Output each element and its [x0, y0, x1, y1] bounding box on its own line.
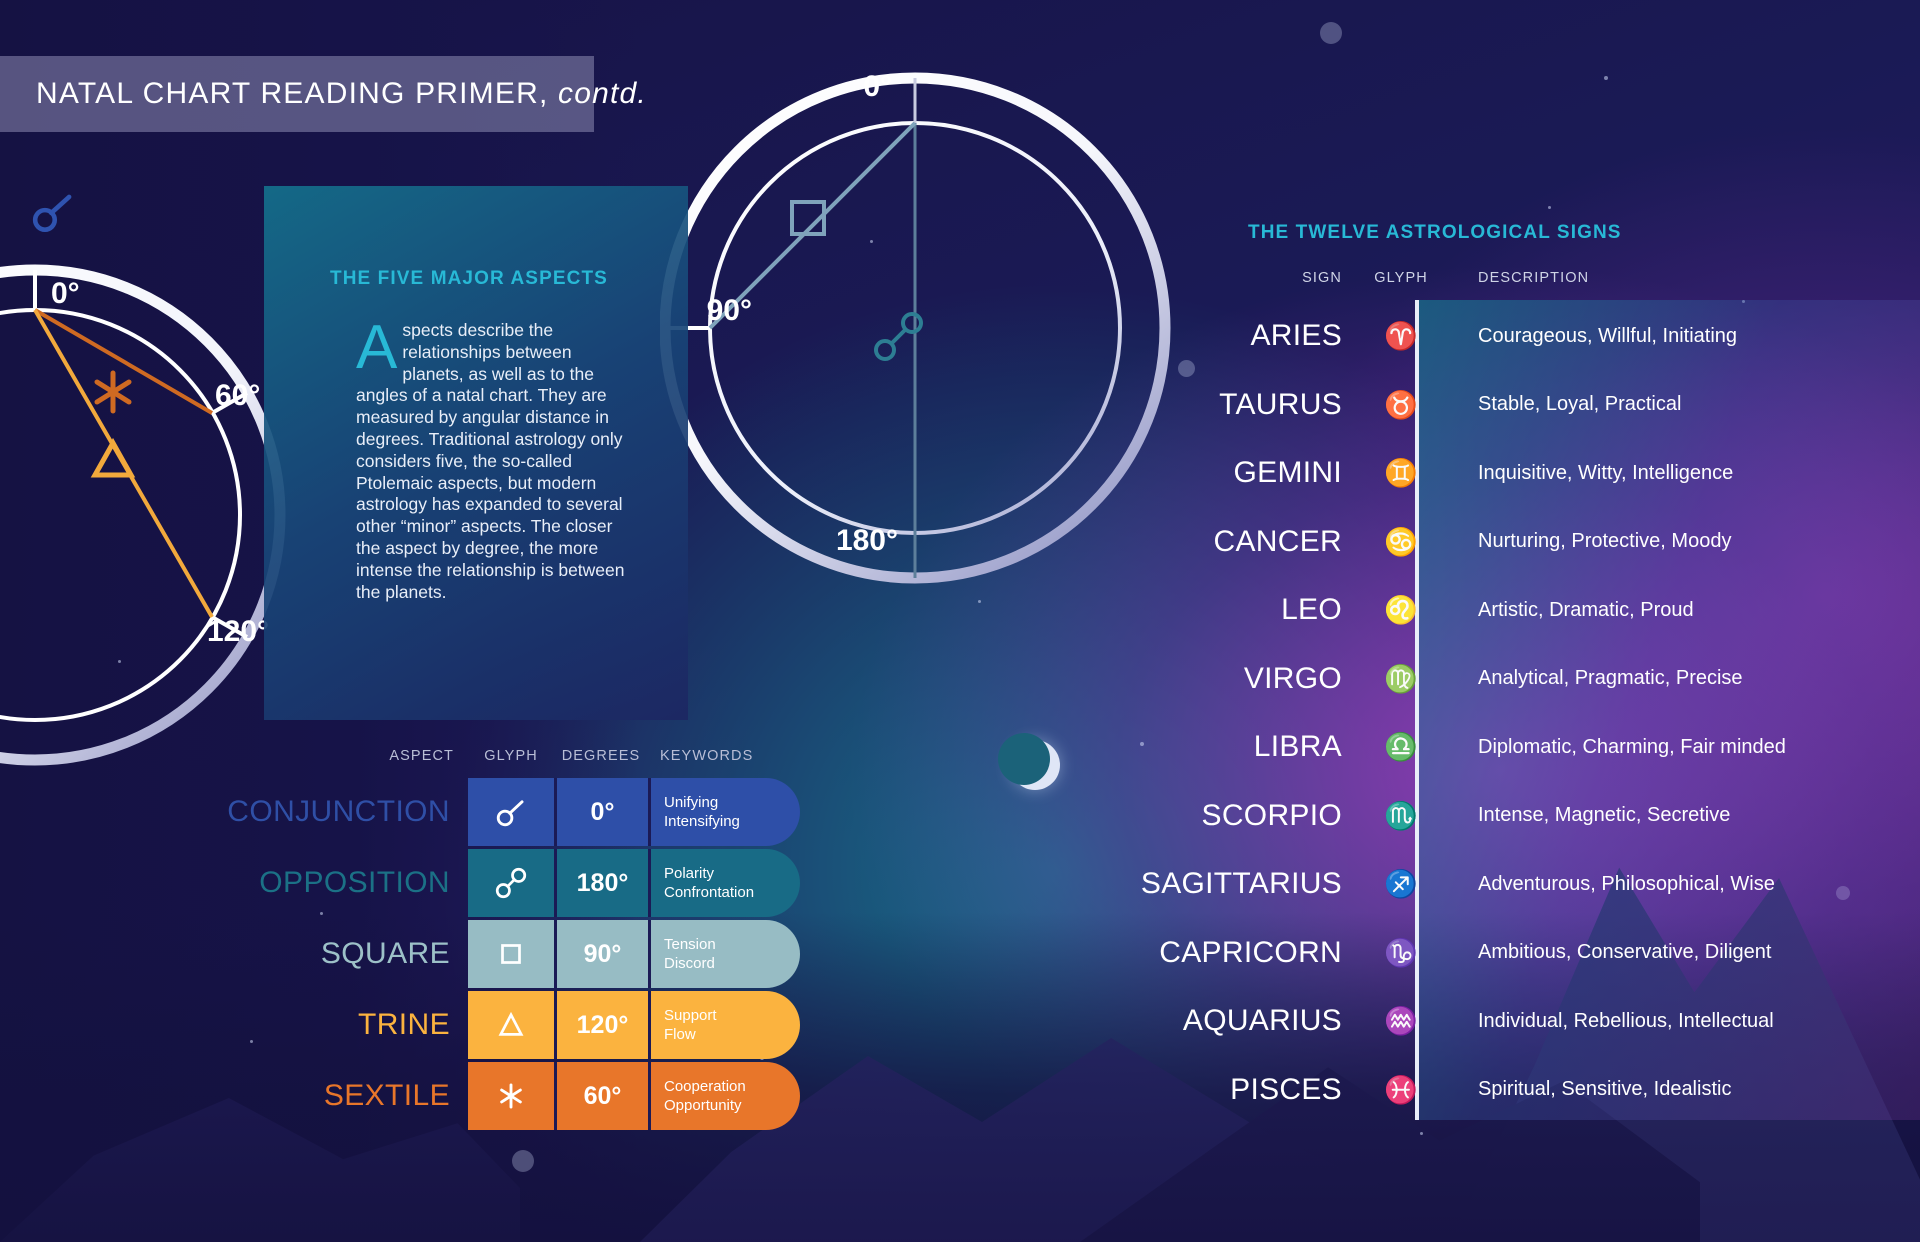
- sign-row[interactable]: GEMINI♊Inquisitive, Witty, Intelligence: [1030, 439, 1920, 508]
- sign-description: Spiritual, Sensitive, Idealistic: [1442, 1078, 1920, 1101]
- sign-glyph-libra: ♎: [1360, 731, 1442, 763]
- sign-name: CAPRICORN: [1030, 936, 1360, 970]
- sign-description: Courageous, Willful, Initiating: [1442, 325, 1920, 348]
- sign-name: VIRGO: [1030, 662, 1360, 696]
- aspect-glyph-cell: [468, 920, 554, 988]
- star: [1420, 1132, 1423, 1135]
- aspect-glyph-cell: [468, 1062, 554, 1130]
- signs-table-body: ARIES♈Courageous, Willful, InitiatingTAU…: [1030, 302, 1920, 1124]
- aspect-keywords: PolarityConfrontation: [648, 849, 800, 917]
- wheel-left-label-0: 0°: [51, 277, 80, 310]
- sign-name: LIBRA: [1030, 730, 1360, 764]
- header-sign: SIGN: [1030, 270, 1360, 302]
- aspects-table-body: CONJUNCTION0°UnifyingIntensifyingOPPOSIT…: [220, 778, 834, 1130]
- aspect-row[interactable]: OPPOSITION180°PolarityConfrontation: [220, 849, 834, 917]
- aspect-glyph-cell: [468, 778, 554, 846]
- sign-name: GEMINI: [1030, 456, 1360, 490]
- signs-section-heading: THE TWELVE ASTROLOGICAL SIGNS: [1248, 222, 1622, 244]
- aspect-wheel-left: 0° 60° 120°: [0, 245, 305, 785]
- aspect-name: TRINE: [220, 991, 468, 1059]
- sign-name: TAURUS: [1030, 388, 1360, 422]
- sign-row[interactable]: SCORPIO♏Intense, Magnetic, Secretive: [1030, 782, 1920, 851]
- sign-glyph-scorpio: ♏: [1360, 800, 1442, 832]
- aspect-keyword: Confrontation: [664, 883, 800, 902]
- sign-row[interactable]: CANCER♋Nurturing, Protective, Moody: [1030, 508, 1920, 577]
- aspect-keyword: Opportunity: [664, 1096, 800, 1115]
- aspect-row[interactable]: SQUARE90°TensionDiscord: [220, 920, 834, 988]
- aspect-degrees: 120°: [554, 991, 648, 1059]
- sign-row[interactable]: VIRGO♍Analytical, Pragmatic, Precise: [1030, 645, 1920, 714]
- sign-glyph-aquarius: ♒: [1360, 1005, 1442, 1037]
- aspect-degrees: 60°: [554, 1062, 648, 1130]
- sign-name: AQUARIUS: [1030, 1004, 1360, 1038]
- aspect-cells: 60°CooperationOpportunity: [468, 1062, 800, 1130]
- aspect-name: SQUARE: [220, 920, 468, 988]
- aspect-name: SEXTILE: [220, 1062, 468, 1130]
- sign-glyph-capricorn: ♑: [1360, 937, 1442, 969]
- aspects-table-header: ASPECT GLYPH DEGREES KEYWORDS: [220, 748, 834, 778]
- page-title-main: NATAL CHART READING PRIMER,: [36, 77, 558, 110]
- aspect-degrees: 180°: [554, 849, 648, 917]
- sign-glyph-cancer: ♋: [1360, 526, 1442, 558]
- header-glyph: GLYPH: [468, 748, 554, 778]
- sign-description: Intense, Magnetic, Secretive: [1442, 804, 1920, 827]
- sign-glyph-sagittarius: ♐: [1360, 868, 1442, 900]
- aspect-row[interactable]: CONJUNCTION0°UnifyingIntensifying: [220, 778, 834, 846]
- aspect-keyword: Discord: [664, 954, 800, 973]
- aspect-cells: 0°UnifyingIntensifying: [468, 778, 800, 846]
- sign-description: Ambitious, Conservative, Diligent: [1442, 941, 1920, 964]
- conjunction-glyph-decorative: [30, 190, 76, 236]
- aspects-table: ASPECT GLYPH DEGREES KEYWORDS CONJUNCTIO…: [220, 748, 834, 1133]
- star: [1548, 206, 1551, 209]
- aspect-name: CONJUNCTION: [220, 778, 468, 846]
- wheel-center-label-90: 90°: [707, 294, 752, 327]
- star: [1604, 76, 1608, 80]
- aspect-glyph-cell: [468, 849, 554, 917]
- sign-description: Individual, Rebellious, Intellectual: [1442, 1010, 1920, 1033]
- aspect-row[interactable]: SEXTILE60°CooperationOpportunity: [220, 1062, 834, 1130]
- trine-glyph: [95, 443, 131, 475]
- star-orb: [512, 1150, 534, 1172]
- conjunction-glyph: [494, 795, 528, 829]
- aspect-row[interactable]: TRINE120°SupportFlow: [220, 991, 834, 1059]
- sign-glyph-taurus: ♉: [1360, 389, 1442, 421]
- aspect-keywords: CooperationOpportunity: [648, 1062, 800, 1130]
- sign-row[interactable]: PISCES♓Spiritual, Sensitive, Idealistic: [1030, 1056, 1920, 1125]
- signs-table: SIGN GLYPH DESCRIPTION ARIES♈Courageous,…: [1030, 270, 1920, 1124]
- aspect-glyph-cell: [468, 991, 554, 1059]
- sign-row[interactable]: ARIES♈Courageous, Willful, Initiating: [1030, 302, 1920, 371]
- square-glyph: [494, 937, 528, 971]
- aspect-keyword: Polarity: [664, 864, 800, 883]
- sign-description: Analytical, Pragmatic, Precise: [1442, 667, 1920, 690]
- page-title-bar: NATAL CHART READING PRIMER, contd.: [0, 56, 594, 132]
- sign-row[interactable]: LEO♌Artistic, Dramatic, Proud: [1030, 576, 1920, 645]
- page-title: NATAL CHART READING PRIMER, contd.: [0, 77, 647, 111]
- aspects-dropcap: A: [356, 322, 402, 374]
- trine-glyph: [494, 1008, 528, 1042]
- sign-name: CANCER: [1030, 525, 1360, 559]
- header-degrees: DEGREES: [554, 748, 648, 778]
- aspect-degrees: 0°: [554, 778, 648, 846]
- sign-row[interactable]: SAGITTARIUS♐Adventurous, Philosophical, …: [1030, 850, 1920, 919]
- wheel-center-label-0: 0°: [863, 70, 892, 103]
- sign-name: SAGITTARIUS: [1030, 867, 1360, 901]
- sign-name: SCORPIO: [1030, 799, 1360, 833]
- sign-description: Stable, Loyal, Practical: [1442, 393, 1920, 416]
- aspect-keyword: Cooperation: [664, 1077, 800, 1096]
- sign-row[interactable]: TAURUS♉Stable, Loyal, Practical: [1030, 371, 1920, 440]
- aspect-cells: 120°SupportFlow: [468, 991, 800, 1059]
- sign-row[interactable]: AQUARIUS♒Individual, Rebellious, Intelle…: [1030, 987, 1920, 1056]
- aspect-keyword: Support: [664, 1006, 800, 1025]
- aspects-section-heading: THE FIVE MAJOR ASPECTS: [330, 268, 670, 290]
- sign-name: PISCES: [1030, 1073, 1360, 1107]
- sign-name: LEO: [1030, 593, 1360, 627]
- sign-glyph-virgo: ♍: [1360, 663, 1442, 695]
- wheel-left-label-120: 120°: [207, 615, 269, 648]
- sextile-glyph: [97, 373, 129, 411]
- aspect-keyword: Flow: [664, 1025, 800, 1044]
- sign-description: Inquisitive, Witty, Intelligence: [1442, 462, 1920, 485]
- sign-description: Artistic, Dramatic, Proud: [1442, 599, 1920, 622]
- header-description: DESCRIPTION: [1442, 270, 1920, 302]
- sign-description: Nurturing, Protective, Moody: [1442, 530, 1920, 553]
- sextile-glyph: [494, 1079, 528, 1113]
- star-orb: [1320, 22, 1342, 44]
- signs-table-header: SIGN GLYPH DESCRIPTION: [1030, 270, 1920, 302]
- header-aspect: ASPECT: [220, 748, 468, 778]
- sign-glyph-aries: ♈: [1360, 320, 1442, 352]
- aspect-name: OPPOSITION: [220, 849, 468, 917]
- sign-description: Adventurous, Philosophical, Wise: [1442, 873, 1920, 896]
- wheel-left-label-60: 60°: [215, 379, 260, 412]
- sign-row[interactable]: CAPRICORN♑Ambitious, Conservative, Dilig…: [1030, 919, 1920, 988]
- aspect-cells: 180°PolarityConfrontation: [468, 849, 800, 917]
- header-keywords: KEYWORDS: [648, 748, 800, 778]
- sign-name: ARIES: [1030, 319, 1360, 353]
- sign-glyph-gemini: ♊: [1360, 457, 1442, 489]
- aspect-keyword: Intensifying: [664, 812, 800, 831]
- aspect-degrees: 90°: [554, 920, 648, 988]
- page-title-emphasis: contd.: [558, 77, 647, 110]
- aspects-body-text: Aspects describe the relationships betwe…: [356, 320, 632, 603]
- sign-glyph-pisces: ♓: [1360, 1074, 1442, 1106]
- aspect-keyword: Tension: [664, 935, 800, 954]
- aspect-keywords: SupportFlow: [648, 991, 800, 1059]
- aspect-cells: 90°TensionDiscord: [468, 920, 800, 988]
- sign-description: Diplomatic, Charming, Fair minded: [1442, 736, 1920, 759]
- header-sign-glyph: GLYPH: [1360, 270, 1442, 302]
- wheel-center-label-180: 180°: [836, 524, 898, 557]
- aspect-keywords: UnifyingIntensifying: [648, 778, 800, 846]
- aspect-keyword: Unifying: [664, 793, 800, 812]
- opposition-glyph: [494, 866, 528, 900]
- sign-glyph-leo: ♌: [1360, 594, 1442, 626]
- sign-row[interactable]: LIBRA♎Diplomatic, Charming, Fair minded: [1030, 713, 1920, 782]
- aspect-keywords: TensionDiscord: [648, 920, 800, 988]
